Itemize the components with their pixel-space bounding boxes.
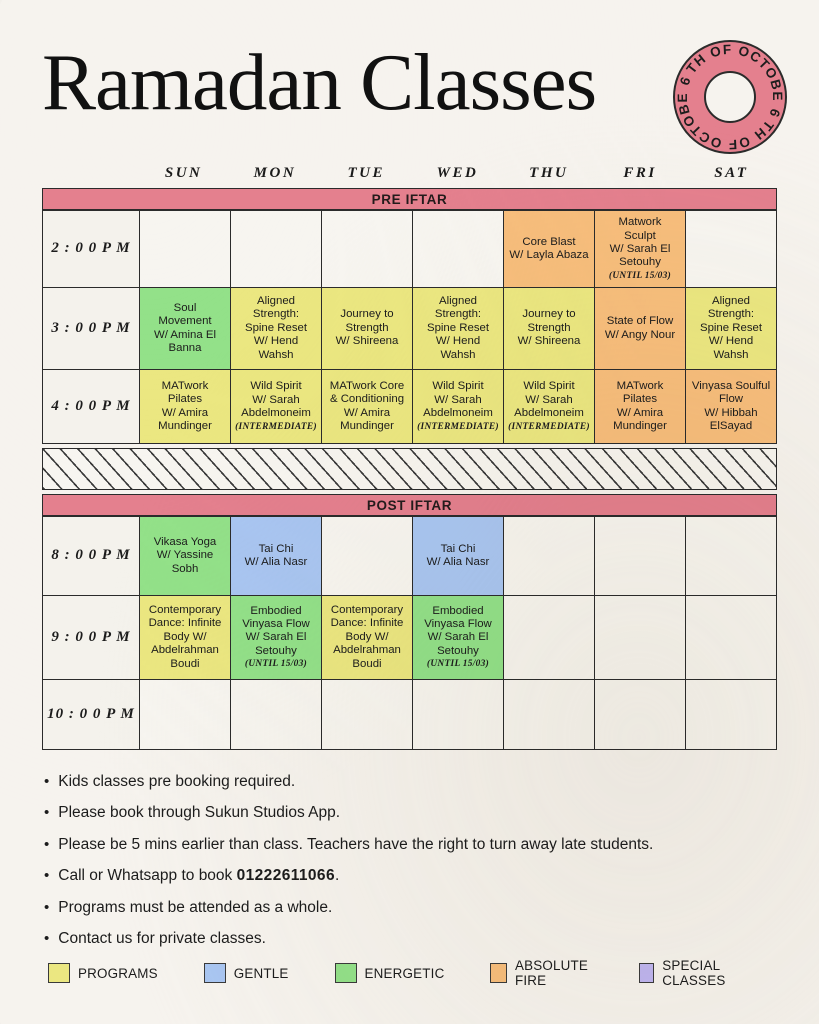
class-title: Journey toStrengthW/ Shireena (336, 308, 399, 348)
class-note: (UNTIL 15/03) (427, 659, 489, 670)
bullet-icon: • (44, 772, 49, 792)
class-cell[interactable]: State of FlowW/ Angy Nour (594, 288, 685, 369)
list-item: •Please be 5 mins earlier than class. Te… (44, 835, 764, 855)
legend-swatch-icon (335, 963, 357, 983)
class-cell[interactable]: Wild SpiritW/ SarahAbdelmoneim(INTERMEDI… (503, 370, 594, 443)
bullet-icon: • (44, 929, 49, 949)
pre-iftar-rows: 2 : 0 0 P M Core BlastW/ Layla Abaza Mat… (42, 210, 777, 444)
day-header-wed: WED (412, 165, 503, 182)
notes-list: •Kids classes pre booking required. •Ple… (44, 772, 764, 961)
class-cell[interactable]: Tai ChiW/ Alia Nasr (412, 517, 503, 595)
legend-label: ABSOLUTE FIRE (515, 958, 594, 988)
table-row: 2 : 0 0 P M Core BlastW/ Layla Abaza Mat… (43, 211, 776, 287)
class-title: Tai ChiW/ Alia Nasr (427, 543, 490, 570)
class-title: EmbodiedVinyasa FlowW/ Sarah ElSetouhy (242, 605, 310, 659)
class-cell[interactable]: MatworkSculptW/ Sarah ElSetouhy(UNTIL 15… (594, 211, 685, 287)
class-cell[interactable]: ContemporaryDance: InfiniteBody W/Abdelr… (321, 596, 412, 679)
class-title: Journey toStrengthW/ Shireena (518, 308, 581, 348)
table-row: 4 : 0 0 P M MATworkPilatesW/ AmiraMundin… (43, 369, 776, 443)
legend-item-gentle: GENTLE (204, 963, 289, 983)
class-cell[interactable] (139, 211, 230, 287)
class-title: ContemporaryDance: InfiniteBody W/Abdelr… (331, 604, 404, 671)
class-cell[interactable] (594, 596, 685, 679)
legend-swatch-icon (204, 963, 226, 983)
class-title: AlignedStrength:Spine ResetW/ HendWahsh (427, 295, 489, 362)
class-cell[interactable]: ContemporaryDance: InfiniteBody W/Abdelr… (139, 596, 230, 679)
class-cell[interactable]: MATworkPilatesW/ AmiraMundinger (594, 370, 685, 443)
bullet-icon: • (44, 803, 49, 823)
class-title: Wild SpiritW/ SarahAbdelmoneim (514, 380, 584, 420)
legend-label: ENERGETIC (365, 966, 445, 981)
legend-swatch-icon (490, 963, 507, 983)
legend-swatch-icon (48, 963, 70, 983)
class-cell[interactable]: Journey toStrengthW/ Shireena (321, 288, 412, 369)
class-cell[interactable] (685, 680, 776, 749)
post-iftar-rows: 8 : 0 0 P M Vikasa YogaW/ YassineSobh Ta… (42, 516, 777, 750)
class-cell[interactable]: EmbodiedVinyasa FlowW/ Sarah ElSetouhy(U… (412, 596, 503, 679)
class-cell[interactable] (412, 211, 503, 287)
list-item: •Contact us for private classes. (44, 929, 764, 949)
note-text: Kids classes pre booking required. (58, 772, 295, 792)
six-october-stamp: 6 TH OF OCTOBER · 6 TH OF OCTOBER · (671, 38, 789, 156)
class-title: Wild SpiritW/ SarahAbdelmoneim (241, 380, 311, 420)
iftar-break-divider (42, 448, 777, 490)
class-cell[interactable] (230, 680, 321, 749)
legend-label: GENTLE (234, 966, 289, 981)
class-cell[interactable] (594, 680, 685, 749)
day-header-spacer (42, 165, 138, 182)
day-header-sat: SAT (686, 165, 777, 182)
schedule-grid: PRE IFTAR 2 : 0 0 P M Core BlastW/ Layla… (42, 188, 777, 750)
bullet-icon: • (44, 866, 49, 886)
class-title: Vinyasa SoulfulFlowW/ HibbahElSayad (692, 380, 770, 434)
note-text: Contact us for private classes. (58, 929, 266, 949)
class-title: EmbodiedVinyasa FlowW/ Sarah ElSetouhy (424, 605, 492, 659)
class-cell[interactable] (594, 517, 685, 595)
class-cell[interactable]: EmbodiedVinyasa FlowW/ Sarah ElSetouhy(U… (230, 596, 321, 679)
legend-item-energetic: ENERGETIC (335, 963, 445, 983)
class-cell[interactable] (685, 517, 776, 595)
poster-header: Ramadan Classes 6 TH OF OCTOBER · 6 TH O… (42, 42, 789, 152)
class-cell[interactable]: MATworkPilatesW/ AmiraMundinger (139, 370, 230, 443)
day-header-fri: FRI (594, 165, 685, 182)
class-note: (UNTIL 15/03) (245, 659, 307, 670)
class-note: (INTERMEDIATE) (235, 422, 317, 433)
class-cell[interactable]: AlignedStrength:Spine ResetW/ HendWahsh (685, 288, 776, 369)
class-cell[interactable] (321, 680, 412, 749)
class-cell[interactable] (230, 211, 321, 287)
class-cell[interactable] (139, 680, 230, 749)
time-label-10pm: 10 : 0 0 P M (43, 680, 139, 749)
time-label-4pm: 4 : 0 0 P M (43, 370, 139, 443)
class-title: State of FlowW/ Angy Nour (605, 315, 675, 342)
class-cell[interactable]: Tai ChiW/ Alia Nasr (230, 517, 321, 595)
note-text: Programs must be attended as a whole. (58, 898, 332, 918)
class-title: AlignedStrength:Spine ResetW/ HendWahsh (700, 295, 762, 362)
class-cell[interactable] (503, 680, 594, 749)
class-title: ContemporaryDance: InfiniteBody W/Abdelr… (149, 604, 222, 671)
legend-item-programs: PROGRAMS (48, 963, 158, 983)
note-text: Call or Whatsapp to book 01222611066. (58, 866, 339, 886)
class-note: (INTERMEDIATE) (508, 422, 590, 433)
class-cell[interactable]: Vinyasa SoulfulFlowW/ HibbahElSayad (685, 370, 776, 443)
class-cell[interactable] (412, 680, 503, 749)
legend-label: SPECIAL CLASSES (662, 958, 742, 988)
list-item: •Please book through Sukun Studios App. (44, 803, 764, 823)
class-title: MatworkSculptW/ Sarah ElSetouhy (610, 216, 671, 270)
table-row: 9 : 0 0 P M ContemporaryDance: InfiniteB… (43, 595, 776, 679)
class-note: (UNTIL 15/03) (609, 271, 671, 282)
class-cell[interactable] (685, 596, 776, 679)
class-cell[interactable] (321, 211, 412, 287)
legend-swatch-icon (639, 963, 654, 983)
class-cell[interactable]: Wild SpiritW/ SarahAbdelmoneim(INTERMEDI… (230, 370, 321, 443)
day-header-tue: TUE (321, 165, 412, 182)
class-cell[interactable] (685, 211, 776, 287)
note-text: Please book through Sukun Studios App. (58, 803, 340, 823)
class-cell[interactable]: Core BlastW/ Layla Abaza (503, 211, 594, 287)
class-title: SoulMovementW/ Amina ElBanna (154, 302, 216, 356)
note-phone-number: 01222611066 (237, 867, 335, 884)
day-header-mon: MON (229, 165, 320, 182)
table-row: 10 : 0 0 P M (43, 679, 776, 749)
list-item: •Call or Whatsapp to book 01222611066. (44, 866, 764, 886)
class-cell[interactable]: Wild SpiritW/ SarahAbdelmoneim(INTERMEDI… (412, 370, 503, 443)
class-title: MATwork Core& ConditioningW/ AmiraMundin… (330, 380, 404, 434)
class-note: (INTERMEDIATE) (417, 422, 499, 433)
post-iftar-band: POST IFTAR (42, 494, 777, 516)
table-row: 3 : 0 0 P M SoulMovementW/ Amina ElBanna… (43, 287, 776, 369)
time-label-3pm: 3 : 0 0 P M (43, 288, 139, 369)
legend-item-special-classes: SPECIAL CLASSES (639, 958, 742, 988)
bullet-icon: • (44, 898, 49, 918)
class-title: Wild SpiritW/ SarahAbdelmoneim (423, 380, 493, 420)
note-text: Please be 5 mins earlier than class. Tea… (58, 835, 653, 855)
class-cell[interactable]: AlignedStrength:Spine ResetW/ HendWahsh (412, 288, 503, 369)
class-cell[interactable]: SoulMovementW/ Amina ElBanna (139, 288, 230, 369)
class-title: AlignedStrength:Spine ResetW/ HendWahsh (245, 295, 307, 362)
class-title: MATworkPilatesW/ AmiraMundinger (158, 380, 212, 434)
class-cell[interactable]: Vikasa YogaW/ YassineSobh (139, 517, 230, 595)
class-title: Vikasa YogaW/ YassineSobh (154, 536, 217, 576)
legend-label: PROGRAMS (78, 966, 158, 981)
class-title: Core BlastW/ Layla Abaza (509, 236, 588, 263)
class-title: MATworkPilatesW/ AmiraMundinger (613, 380, 667, 434)
time-label-2pm: 2 : 0 0 P M (43, 211, 139, 287)
list-item: •Kids classes pre booking required. (44, 772, 764, 792)
class-cell[interactable] (503, 596, 594, 679)
class-cell[interactable] (503, 517, 594, 595)
class-cell[interactable]: Journey toStrengthW/ Shireena (503, 288, 594, 369)
class-cell[interactable]: AlignedStrength:Spine ResetW/ HendWahsh (230, 288, 321, 369)
pre-iftar-band: PRE IFTAR (42, 188, 777, 210)
table-row: 8 : 0 0 P M Vikasa YogaW/ YassineSobh Ta… (43, 517, 776, 595)
day-header-sun: SUN (138, 165, 229, 182)
time-label-8pm: 8 : 0 0 P M (43, 517, 139, 595)
class-title: Tai ChiW/ Alia Nasr (245, 543, 308, 570)
day-header-row: SUN MON TUE WED THU FRI SAT (42, 165, 777, 182)
legend-item-absolute-fire: ABSOLUTE FIRE (490, 958, 593, 988)
list-item: •Programs must be attended as a whole. (44, 898, 764, 918)
class-cell[interactable]: MATwork Core& ConditioningW/ AmiraMundin… (321, 370, 412, 443)
time-label-9pm: 9 : 0 0 P M (43, 596, 139, 679)
class-cell[interactable] (321, 517, 412, 595)
bullet-icon: • (44, 835, 49, 855)
day-header-thu: THU (503, 165, 594, 182)
legend: PROGRAMS GENTLE ENERGETIC ABSOLUTE FIRE … (48, 958, 788, 988)
schedule-poster: Ramadan Classes 6 TH OF OCTOBER · 6 TH O… (0, 0, 819, 1024)
